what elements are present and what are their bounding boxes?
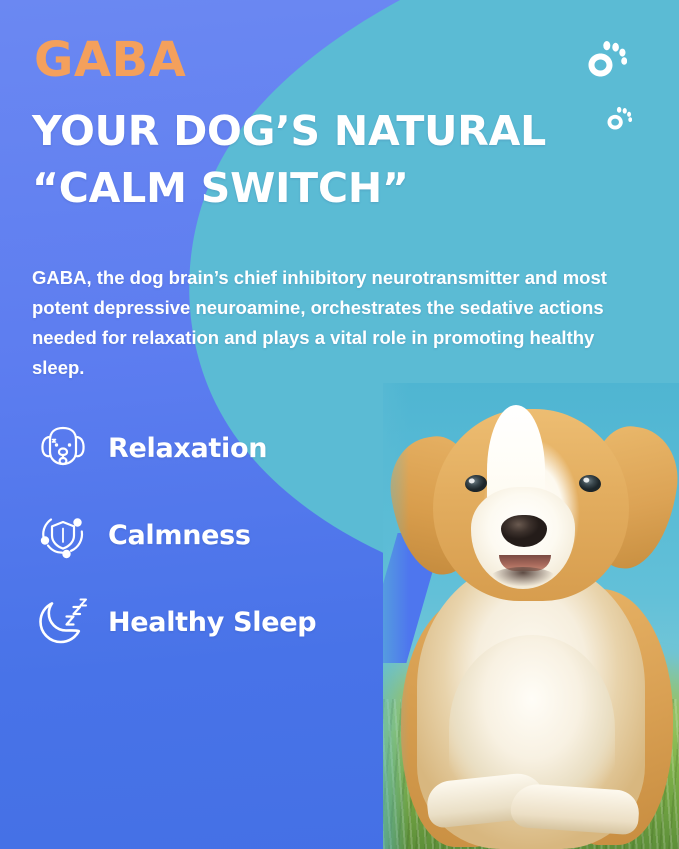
benefit-label: Calmness [108,520,251,551]
crescent-moon-zzz-icon [32,595,94,649]
poster-content: GABA YOUR DOG’S NATURAL “CALM SWITCH” GA… [0,0,679,849]
page-headline: YOUR DOG’S NATURAL “CALM SWITCH” [32,103,632,216]
benefit-item-calmness: Calmness [32,499,392,571]
paw-print-icon [583,38,627,87]
paw-print-icon [604,105,632,138]
headline-line-2: “CALM SWITCH” [32,160,632,217]
sleeping-dog-face-icon [32,422,94,474]
description-paragraph: GABA, the dog brain’s chief inhibitory n… [32,263,642,383]
brand-title: GABA [34,32,186,88]
benefit-item-healthy-sleep: Healthy Sleep [32,586,392,658]
shield-orbit-icon [32,509,94,561]
benefit-item-relaxation: Relaxation [32,412,392,484]
benefit-label: Healthy Sleep [108,607,316,638]
headline-line-1: YOUR DOG’S NATURAL [32,107,546,155]
benefit-label: Relaxation [108,433,267,464]
infographic-poster: GABA YOUR DOG’S NATURAL “CALM SWITCH” GA… [0,0,679,849]
benefits-list: Relaxation Calmness [32,412,392,673]
